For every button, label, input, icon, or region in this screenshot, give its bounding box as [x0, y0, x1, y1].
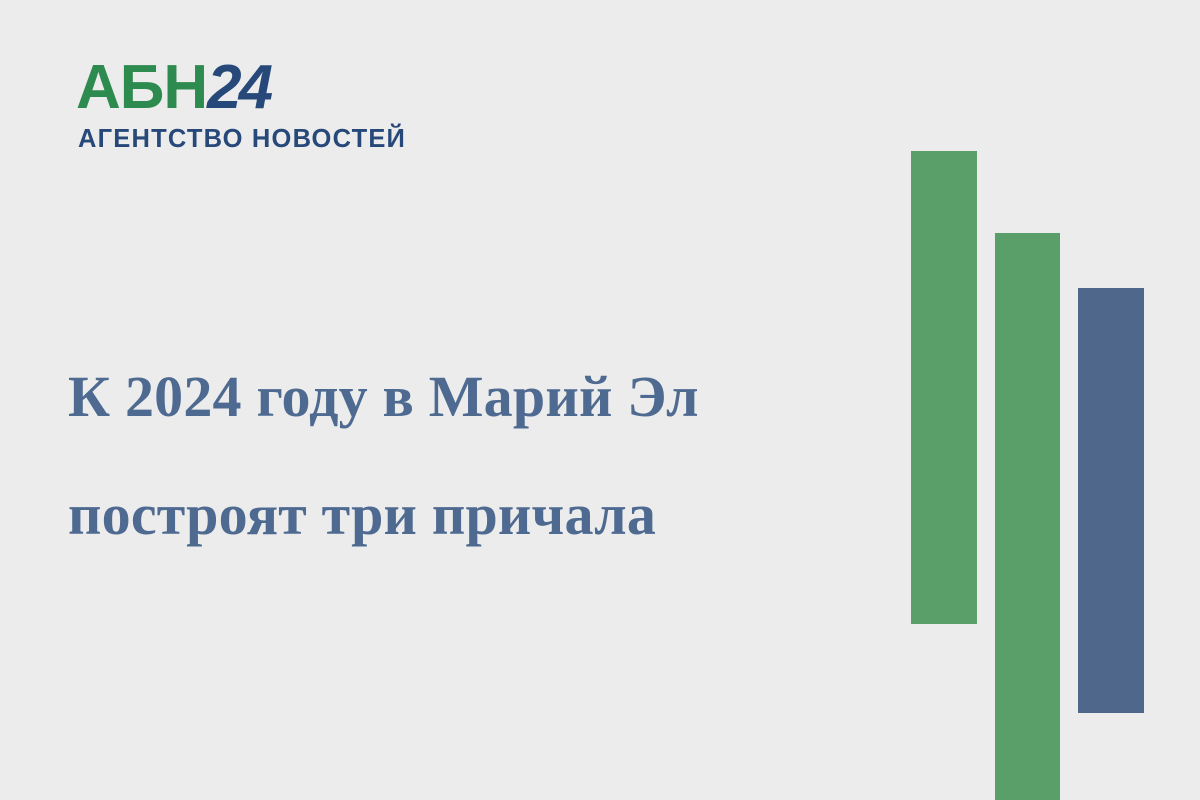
decorative-bar-2 [995, 233, 1060, 800]
news-card: АБН24 АГЕНТСТВО НОВОСТЕЙ К 2024 году в М… [0, 0, 1200, 800]
decorative-bar-group [0, 0, 1200, 800]
decorative-bar-3 [1078, 288, 1144, 713]
decorative-bar-1 [911, 151, 977, 624]
